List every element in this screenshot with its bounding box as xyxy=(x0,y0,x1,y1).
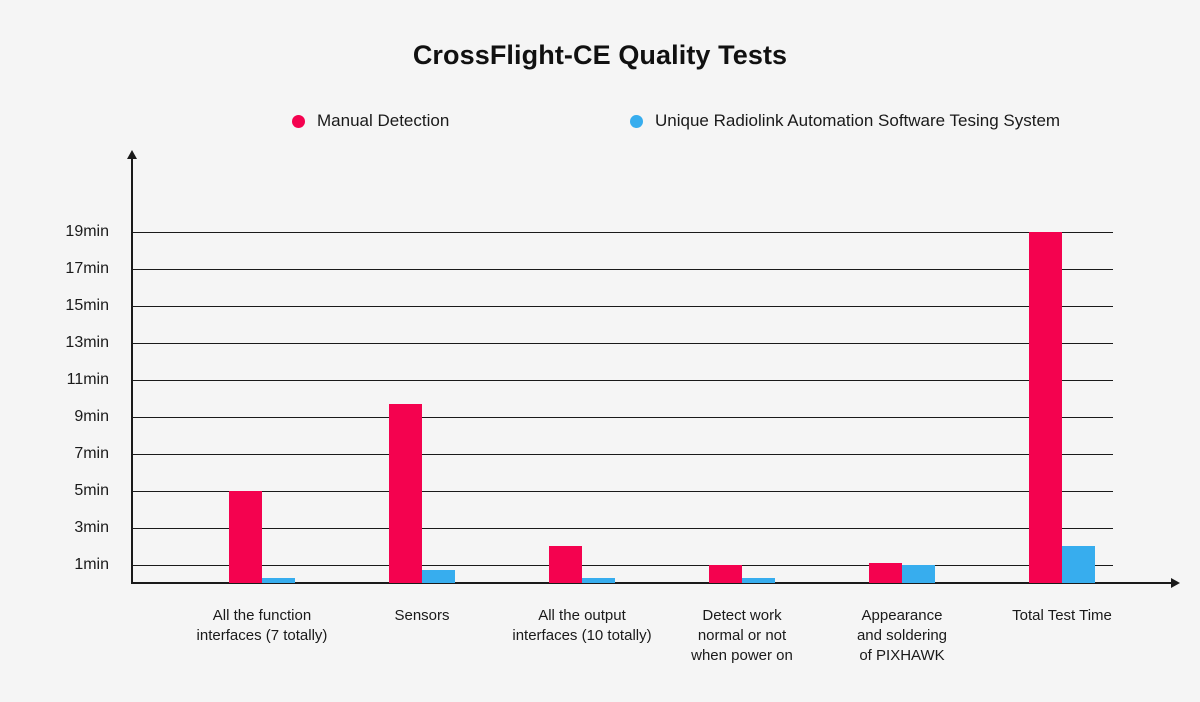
category-label-line: interfaces (7 totally) xyxy=(162,626,362,646)
chart-legend: Manual Detection Unique Radiolink Automa… xyxy=(292,107,1112,135)
bar-manual-detection[interactable] xyxy=(549,546,582,583)
bar-manual-detection[interactable] xyxy=(229,491,262,584)
y-axis-tick-label: 7min xyxy=(29,445,109,463)
legend-item-automation-system[interactable]: Unique Radiolink Automation Software Tes… xyxy=(630,107,1060,135)
bar-group xyxy=(709,150,775,583)
y-axis-tick-label: 1min xyxy=(29,556,109,574)
legend-dot-blue-icon xyxy=(630,115,643,128)
x-axis-category-label: Total Test Time xyxy=(962,606,1162,626)
y-axis-tick-label: 5min xyxy=(29,482,109,500)
y-axis-tick-label: 3min xyxy=(29,519,109,537)
bar-group xyxy=(1029,150,1095,583)
bar-group xyxy=(229,150,295,583)
y-axis-tick-label: 17min xyxy=(29,260,109,278)
bar-manual-detection[interactable] xyxy=(1029,232,1062,584)
bar-automation-system[interactable] xyxy=(742,578,775,583)
legend-item-manual-detection[interactable]: Manual Detection xyxy=(292,107,449,135)
y-axis-tick-label: 13min xyxy=(29,334,109,352)
bar-automation-system[interactable] xyxy=(422,570,455,583)
bar-automation-system[interactable] xyxy=(262,578,295,583)
y-axis-tick-label: 11min xyxy=(29,371,109,389)
bar-group xyxy=(389,150,455,583)
bar-manual-detection[interactable] xyxy=(709,565,742,584)
bars-layer xyxy=(133,150,1113,583)
category-label-line: Total Test Time xyxy=(962,606,1162,626)
y-axis-tick-label: 19min xyxy=(29,223,109,241)
legend-label-manual-detection: Manual Detection xyxy=(317,111,449,131)
bar-group xyxy=(869,150,935,583)
bar-automation-system[interactable] xyxy=(1062,546,1095,583)
category-label-line: and soldering xyxy=(802,626,1002,646)
legend-dot-red-icon xyxy=(292,115,305,128)
legend-label-automation-system: Unique Radiolink Automation Software Tes… xyxy=(655,111,1060,131)
bar-chart: CrossFlight-CE Quality Tests Manual Dete… xyxy=(0,0,1200,702)
bar-manual-detection[interactable] xyxy=(389,404,422,583)
y-axis-tick-label: 9min xyxy=(29,408,109,426)
bar-automation-system[interactable] xyxy=(582,578,615,583)
bar-automation-system[interactable] xyxy=(902,565,935,584)
plot-area: 1min3min5min7min9min11min13min15min17min… xyxy=(131,150,1181,590)
bar-group xyxy=(549,150,615,583)
chart-title: CrossFlight-CE Quality Tests xyxy=(0,40,1200,71)
y-axis-tick-label: 15min xyxy=(29,297,109,315)
x-axis-arrow-icon xyxy=(1171,578,1180,588)
category-label-line: of PIXHAWK xyxy=(802,646,1002,666)
bar-manual-detection[interactable] xyxy=(869,563,902,583)
